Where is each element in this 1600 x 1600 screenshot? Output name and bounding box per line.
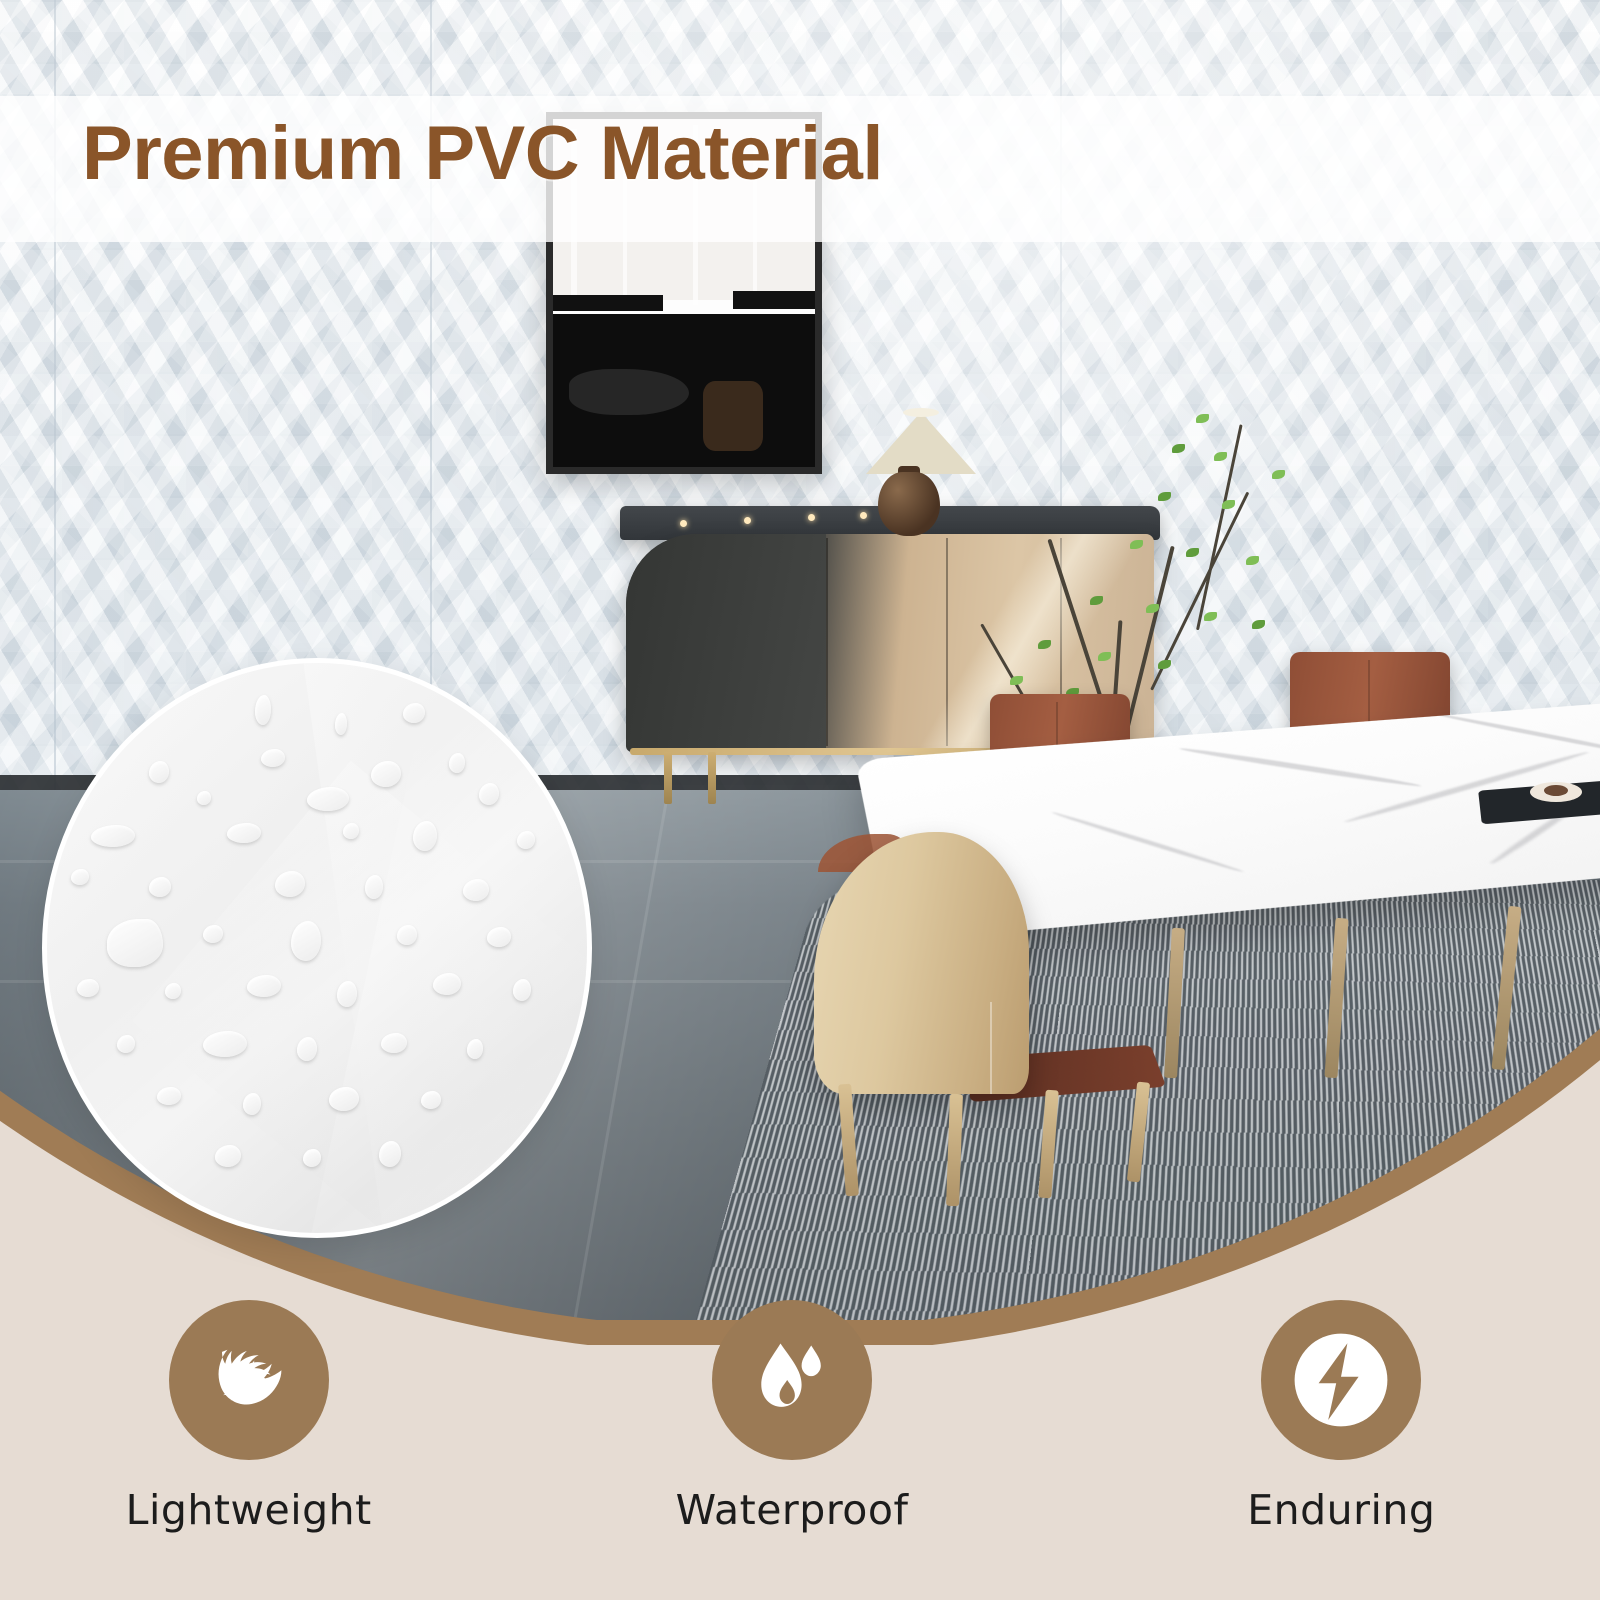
feature-item-waterproof[interactable]: Waterproof (525, 1300, 1058, 1600)
page-title: Premium PVC Material (82, 116, 883, 192)
water-droplet (329, 1087, 359, 1111)
water-droplet (449, 753, 465, 773)
feature-icon-circle (169, 1300, 329, 1460)
artwork-dark-band (553, 295, 663, 311)
water-droplet (433, 973, 461, 995)
water-droplet (255, 695, 271, 725)
artwork-dark-band (733, 291, 815, 309)
sideboard-curved-end (626, 534, 826, 752)
water-droplet (243, 1093, 261, 1115)
feather-icon (195, 1326, 303, 1434)
water-droplet (303, 1149, 321, 1167)
lightning-bolt-icon (1261, 1300, 1421, 1460)
cabinet-led-light (808, 514, 815, 521)
water-drop-icon (744, 1332, 840, 1428)
water-droplet (463, 879, 489, 901)
feature-icon-circle (1261, 1300, 1421, 1460)
chair-stitching (990, 1002, 992, 1094)
sideboard-leg (708, 752, 716, 804)
plate-food (1544, 785, 1568, 796)
water-droplet (365, 875, 383, 899)
feature-item-lightweight[interactable]: Lightweight (0, 1300, 515, 1600)
water-droplet (297, 1037, 317, 1061)
water-droplet (107, 919, 163, 967)
water-droplet (247, 975, 281, 997)
water-droplet (165, 983, 181, 999)
artwork-blob (569, 369, 689, 415)
water-droplet (513, 979, 531, 1001)
lamp-shade (866, 412, 976, 474)
water-droplet (149, 761, 169, 783)
water-droplet (117, 1035, 135, 1053)
water-droplet (397, 925, 417, 945)
feature-label: Lightweight (126, 1486, 372, 1534)
marble-vein (1432, 711, 1600, 759)
water-droplet (479, 783, 499, 805)
feature-item-enduring[interactable]: Enduring (1075, 1300, 1600, 1600)
water-droplet (157, 1087, 181, 1105)
feature-list: Lightweight Waterproof Enduring (0, 1300, 1600, 1600)
water-droplet (487, 927, 511, 947)
water-droplet (71, 869, 89, 885)
water-droplet (403, 703, 425, 723)
water-droplet (77, 979, 99, 997)
leather-chair-cream (800, 832, 1055, 1162)
lamp-shade-top (903, 408, 939, 417)
water-droplet (413, 821, 437, 851)
water-droplet (203, 925, 223, 943)
cabinet-led-light (680, 520, 687, 527)
marble-vein (1051, 811, 1244, 874)
sideboard-door-seam (826, 538, 828, 746)
sideboard-leg (664, 752, 672, 804)
water-droplet (337, 981, 357, 1007)
marble-vein (1179, 746, 1421, 789)
water-droplet (381, 1033, 407, 1053)
water-droplet (149, 877, 171, 897)
feature-icon-circle (712, 1300, 872, 1460)
sideboard-door-seam (946, 538, 948, 746)
cabinet-led-light (860, 512, 867, 519)
water-droplet (291, 921, 321, 961)
water-droplet (197, 791, 211, 805)
water-droplet (275, 871, 305, 897)
water-droplet (215, 1145, 241, 1167)
water-droplet (371, 761, 401, 787)
water-droplet (261, 749, 285, 767)
cabinet-led-light (744, 517, 751, 524)
water-droplet (91, 825, 135, 847)
water-droplet (335, 713, 347, 735)
waterproof-closeup-inset (42, 658, 592, 1238)
water-droplet (203, 1031, 247, 1057)
water-droplet (421, 1091, 441, 1109)
product-feature-banner: Premium PVC Material Lightweight Waterpr… (0, 0, 1600, 1600)
feature-label: Enduring (1247, 1486, 1435, 1534)
water-droplet (467, 1039, 483, 1059)
water-droplet (343, 823, 359, 839)
feature-label: Waterproof (676, 1486, 909, 1534)
lamp-base-vase (878, 472, 940, 536)
water-droplet (379, 1141, 401, 1167)
water-droplet (517, 831, 535, 849)
water-droplet (307, 787, 349, 811)
water-droplet (227, 823, 261, 843)
artwork-blob (703, 381, 763, 451)
